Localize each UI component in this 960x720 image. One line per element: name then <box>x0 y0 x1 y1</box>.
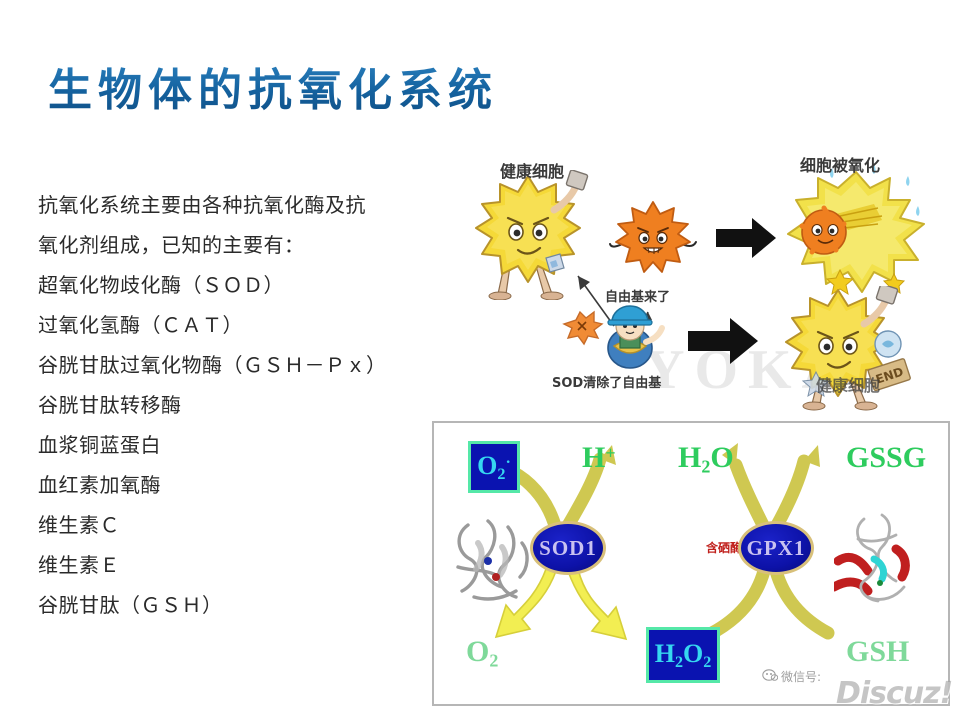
hydrogen-peroxide-box: H2O2 <box>646 627 720 683</box>
body-line: 维生素Ｃ <box>38 506 438 546</box>
oxidized-cell-figure <box>778 162 938 302</box>
body-line: 血浆铜蓝蛋白 <box>38 426 438 466</box>
page-title: 生物体的抗氧化系统 <box>48 54 498 118</box>
body-line: 抗氧化系统主要由各种抗氧化酶及抗 <box>38 186 438 226</box>
enzyme-sod1: SOD1 <box>530 521 606 575</box>
enzyme-gpx1: GPX1 <box>738 521 814 575</box>
cartoon-illustration: YOKA <box>448 140 956 408</box>
sod1-protein-ribbon <box>444 513 540 614</box>
healthy-cell-bottom-label: 健康细胞 <box>816 372 880 396</box>
discuz-watermark: Discuz! <box>836 676 952 711</box>
wechat-watermark: 微信号: <box>762 668 821 685</box>
antioxidant-pathway-diagram: O2· H+ H2O GSSG <box>432 421 950 706</box>
body-line: 维生素Ｅ <box>38 546 438 586</box>
body-line: 谷胱甘肽过氧化物酶（ＧＳＨ－Ｐｘ） <box>38 346 438 386</box>
free-radical-figure <box>608 198 698 278</box>
sod-clears-radical-label: SOD清除了自由基 <box>552 372 661 391</box>
sod-worker-figure <box>558 288 668 374</box>
body-line: 氧化剂组成，已知的主要有： <box>38 226 438 266</box>
healthy-cell-top-label: 健康细胞 <box>500 158 564 182</box>
body-text-block: 抗氧化系统主要由各种抗氧化酶及抗 氧化剂组成，已知的主要有： 超氧化物歧化酶（Ｓ… <box>38 186 438 626</box>
body-line: 超氧化物歧化酶（ＳＯＤ） <box>38 266 438 306</box>
h-plus-label: H+ <box>582 441 616 475</box>
body-line: 谷胱甘肽转移酶 <box>38 386 438 426</box>
arrow-right-icon <box>716 216 778 260</box>
slide-canvas: 生物体的抗氧化系统 抗氧化系统主要由各种抗氧化酶及抗 氧化剂组成，已知的主要有：… <box>0 0 960 720</box>
selenium-enzyme-note: 含硒酶 <box>706 539 742 556</box>
wechat-face-icon <box>762 668 778 685</box>
gssg-label: GSSG <box>846 441 926 475</box>
gsh-label: GSH <box>846 635 909 669</box>
hydrogen-peroxide-formula: H2O2 <box>655 639 712 672</box>
oxidized-cell-label: 细胞被氧化 <box>800 152 880 176</box>
gpx1-protein-ribbon <box>834 509 936 614</box>
body-line: 血红素加氧酶 <box>38 466 438 506</box>
h2o-label: H2O <box>678 441 734 477</box>
superoxide-box: O2· <box>468 441 520 493</box>
body-line: 谷胱甘肽（ＧＳＨ） <box>38 586 438 626</box>
superoxide-formula: O2· <box>477 451 511 484</box>
body-line: 过氧化氢酶（ＣＡＴ） <box>38 306 438 346</box>
oxygen-label: O2 <box>466 635 498 671</box>
arrow-right-icon <box>688 316 760 366</box>
wechat-watermark-text: 微信号: <box>781 668 821 685</box>
